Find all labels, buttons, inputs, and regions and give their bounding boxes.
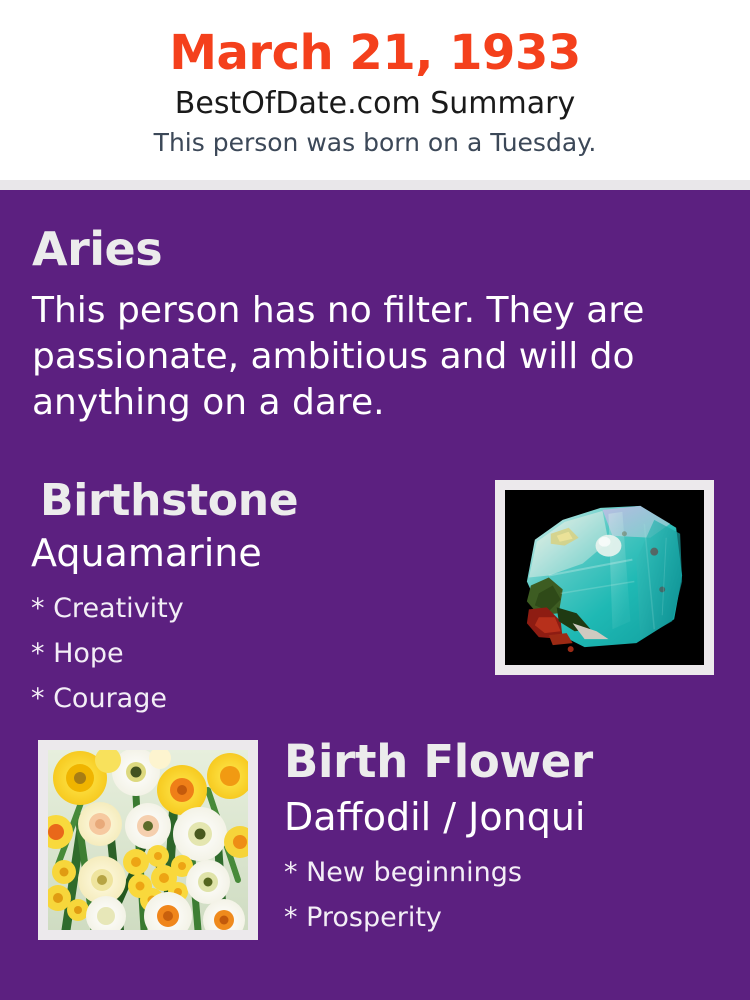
birth-flower-photo-frame xyxy=(38,740,258,940)
page-title-date: March 21, 1933 xyxy=(0,25,750,81)
summary-panel: Aries This person has no filter. They ar… xyxy=(0,190,750,1000)
birth-flower-trait-list: * New beginnings * Prosperity xyxy=(284,850,724,940)
birth-flower-name: Daffodil / Jonqui xyxy=(284,794,585,840)
header: March 21, 1933 BestOfDate.com Summary Th… xyxy=(0,0,750,180)
list-item: * Prosperity xyxy=(284,895,724,940)
list-item: * Creativity xyxy=(31,586,461,631)
birthstone-photo xyxy=(505,490,704,665)
list-item: * Hope xyxy=(31,631,461,676)
birthstone-heading: Birthstone xyxy=(40,475,298,527)
birth-day-note: This person was born on a Tuesday. xyxy=(0,128,750,158)
daffodil-flowers-icon xyxy=(48,750,248,930)
list-item: * New beginnings xyxy=(284,850,724,895)
birth-flower-photo xyxy=(48,750,248,930)
zodiac-description: This person has no filter. They are pass… xyxy=(32,288,652,426)
summary-card: March 21, 1933 BestOfDate.com Summary Th… xyxy=(0,0,750,1000)
birthstone-name: Aquamarine xyxy=(31,530,262,576)
birth-flower-heading: Birth Flower xyxy=(284,735,593,789)
header-divider xyxy=(0,180,750,190)
site-summary-label: BestOfDate.com Summary xyxy=(0,86,750,122)
birthstone-trait-list: * Creativity * Hope * Courage xyxy=(31,586,461,721)
aquamarine-crystal-icon xyxy=(505,490,704,665)
zodiac-sign-title: Aries xyxy=(32,222,162,276)
birthstone-photo-frame xyxy=(495,480,714,675)
list-item: * Courage xyxy=(31,676,461,721)
